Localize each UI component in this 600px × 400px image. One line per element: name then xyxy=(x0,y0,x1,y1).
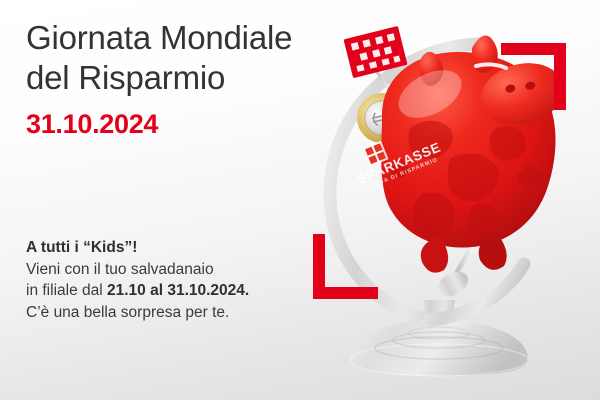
body-copy: A tutti i “Kids”! Vieni con il tuo salva… xyxy=(26,237,326,323)
body-line-3: C’è una bella sorpresa per te. xyxy=(26,302,326,324)
body-line-2: in filiale dal 21.10 al 31.10.2024. xyxy=(26,280,326,302)
body-lead: A tutti i “Kids”! xyxy=(26,237,326,259)
body-line-1: Vieni con il tuo salvadanaio xyxy=(26,259,326,281)
body-line-2-prefix: in filiale dal xyxy=(26,282,107,299)
body-line-2-dates: 21.10 al 31.10.2024. xyxy=(107,282,249,299)
headline-line-1: Giornata Mondiale xyxy=(26,19,292,56)
bracket-bl-horizontal xyxy=(313,287,378,299)
corner-bracket-top-right xyxy=(501,43,566,110)
corner-bracket-bottom-left xyxy=(313,234,378,299)
promo-banner: Giornata Mondiale del Risparmio 31.10.20… xyxy=(0,0,600,400)
event-date: 31.10.2024 xyxy=(26,108,158,140)
bracket-tr-vertical xyxy=(554,43,566,110)
